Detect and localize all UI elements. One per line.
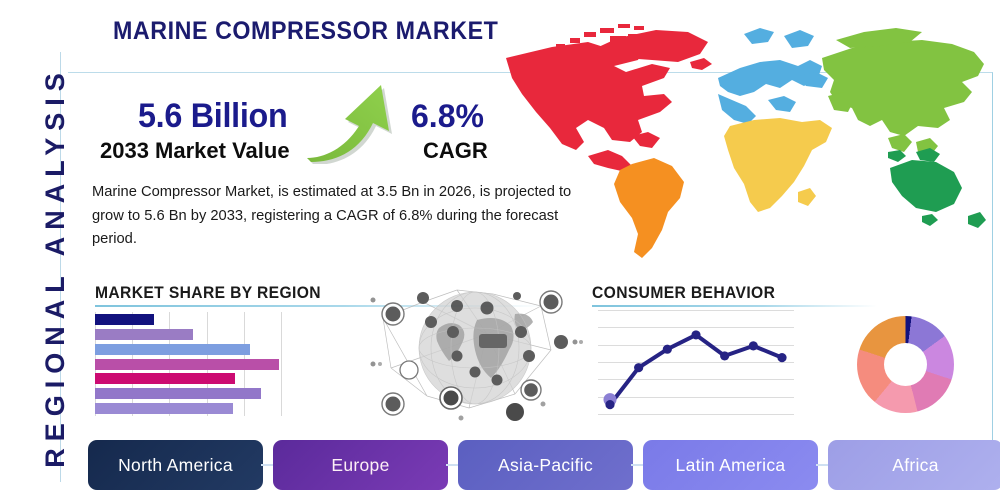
- line-chart-marker: [720, 351, 729, 360]
- line-chart-consumer-behavior: [598, 310, 794, 414]
- bar-chart-gridline: [281, 312, 282, 416]
- line-chart-marker: [691, 330, 700, 339]
- bar-chart-bar: [95, 403, 233, 414]
- donut-hole: [884, 343, 927, 386]
- bar-fill: [95, 329, 193, 340]
- infographic-root: REGIONAL ANALYSIS MARINE COMPRESSOR MARK…: [0, 0, 1000, 500]
- bar-chart-bar: [95, 359, 279, 370]
- bar-chart-bar: [95, 388, 261, 399]
- kpi-market-value: 5.6 Billion: [138, 97, 287, 136]
- line-chart-marker: [634, 363, 643, 372]
- section-heading-consumer-behavior: CONSUMER BEHAVIOR: [592, 283, 775, 303]
- region-chip-europe[interactable]: Europe: [273, 440, 448, 490]
- kpi-market-value-label: 2033 Market Value: [100, 138, 290, 164]
- region-chip-africa[interactable]: Africa: [828, 440, 1000, 490]
- bar-fill: [95, 403, 233, 414]
- line-chart-marker: [605, 400, 614, 409]
- region-chip-north-america[interactable]: North America: [88, 440, 263, 490]
- bar-fill: [95, 373, 235, 384]
- bar-chart-bar: [95, 314, 154, 325]
- line-chart-plot: [598, 310, 794, 414]
- bar-fill: [95, 388, 261, 399]
- bar-chart-bar: [95, 344, 250, 355]
- region-chip-asia-pacific[interactable]: Asia-Pacific: [458, 440, 633, 490]
- region-chip-list: North AmericaEuropeAsia-PacificLatin Ame…: [80, 440, 995, 490]
- kpi-cagr-label: CAGR: [423, 138, 488, 164]
- kpi-cagr-value: 6.8%: [411, 98, 484, 135]
- bar-fill: [95, 359, 279, 370]
- donut-chart-consumer-behavior: [857, 316, 954, 413]
- bar-fill: [95, 314, 154, 325]
- bar-chart-bar: [95, 373, 235, 384]
- section-heading-market-share: MARKET SHARE BY REGION: [95, 283, 321, 303]
- bar-fill: [95, 344, 250, 355]
- line-chart-marker: [777, 353, 786, 362]
- world-map: [492, 16, 992, 274]
- global-network-illustration: [365, 276, 585, 424]
- growth-arrow-icon: [305, 82, 405, 164]
- bar-chart-market-share: [95, 312, 285, 416]
- line-chart-marker: [749, 341, 758, 350]
- bar-chart-bar: [95, 329, 193, 340]
- region-chip-latin-america[interactable]: Latin America: [643, 440, 818, 490]
- line-chart-gridline: [598, 414, 794, 415]
- page-title: MARINE COMPRESSOR MARKET: [113, 17, 498, 46]
- section-rule-right: [592, 305, 877, 307]
- line-chart-marker: [663, 345, 672, 354]
